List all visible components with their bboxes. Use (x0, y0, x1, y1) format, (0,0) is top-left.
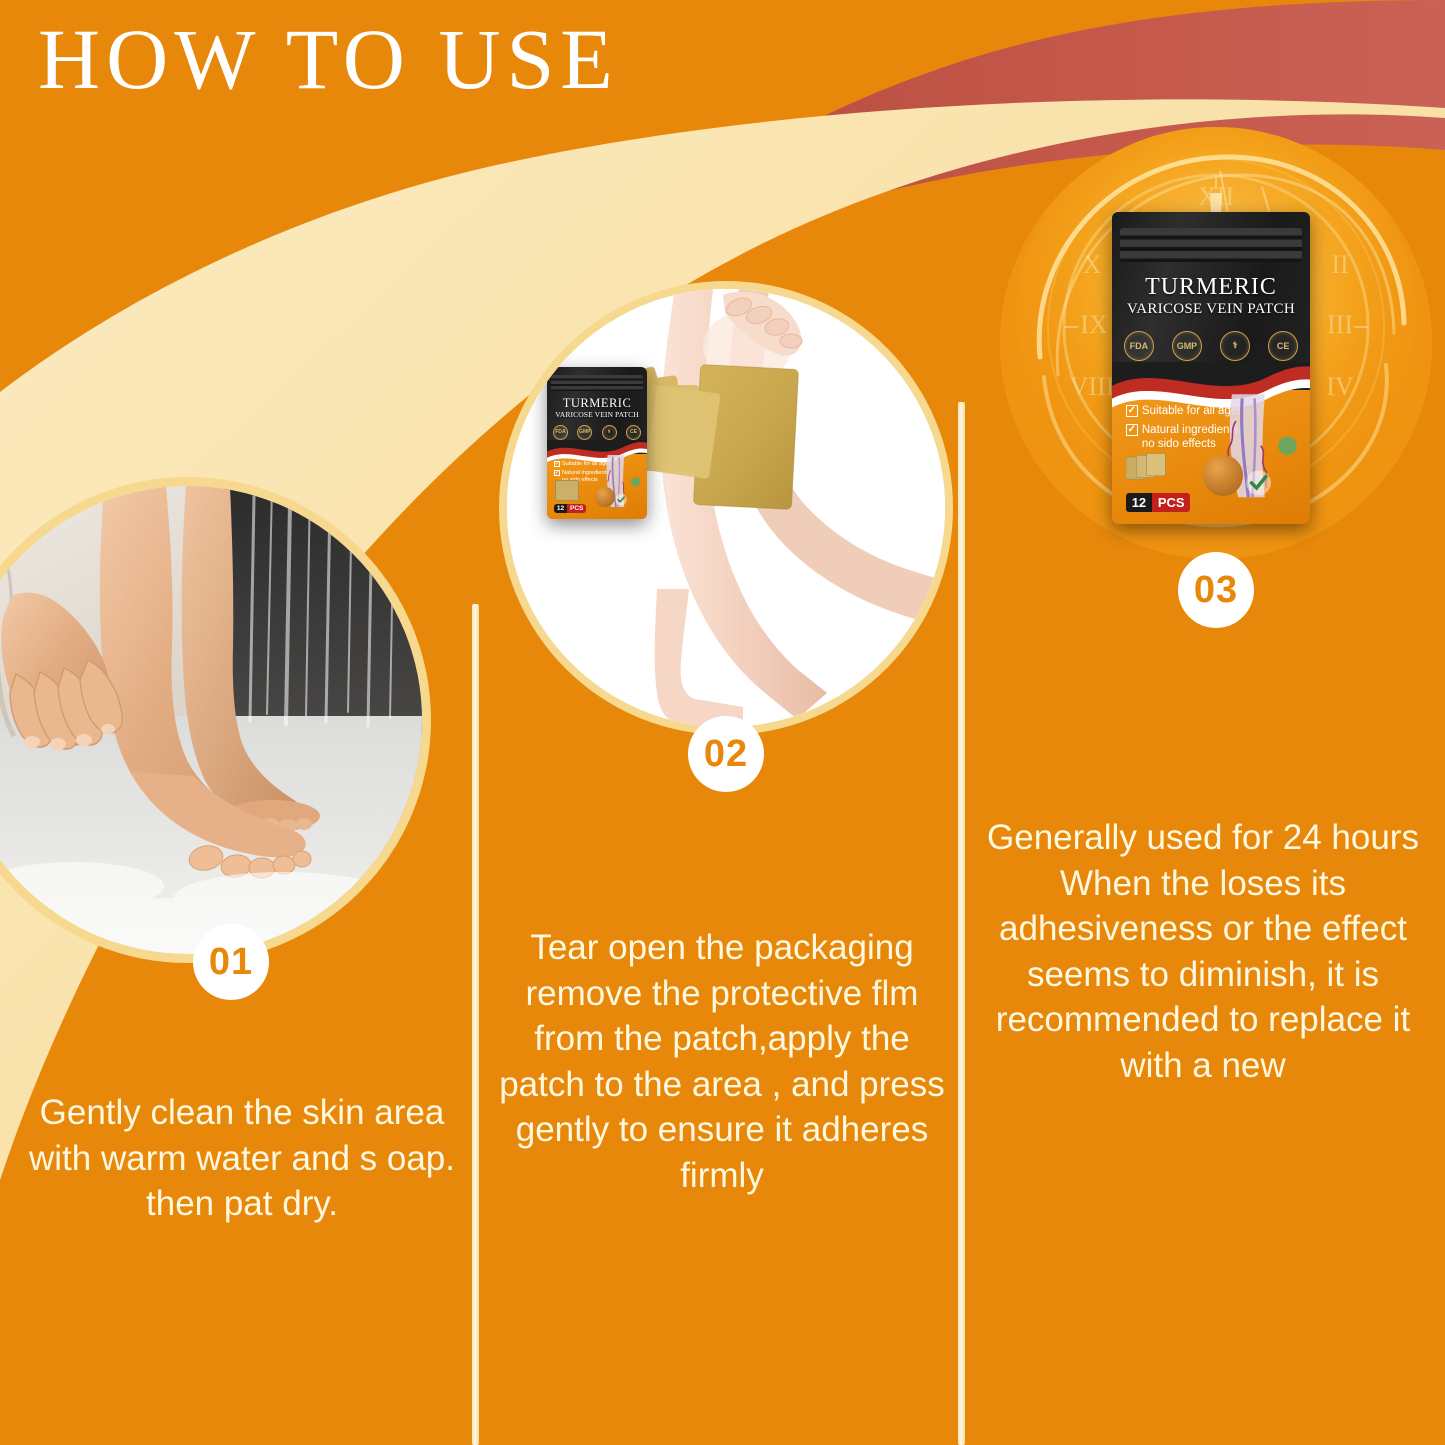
column-divider-2 (958, 402, 965, 1445)
svg-text:VIII: VIII (1070, 372, 1115, 401)
pouch-brand-small: TURMERIC VARICOSE VEIN PATCH (547, 397, 647, 419)
checkbox-icon: ✓ (554, 461, 560, 467)
step-number-badge-03: 03 (1178, 552, 1254, 628)
svg-text:IV: IV (1326, 372, 1354, 401)
pouch-brand-large: TURMERIC VARICOSE VEIN PATCH (1112, 274, 1310, 317)
pouch-zipper-small (551, 375, 643, 392)
pouch-count-unit-small: PCS (567, 504, 586, 513)
leg-vein-graphic-large (1201, 374, 1304, 518)
pouch-brand-line2-small: VARICOSE VEIN PATCH (547, 411, 647, 419)
svg-text:X: X (1083, 250, 1102, 279)
how-to-use-poster: HOW TO USE (0, 0, 1445, 1445)
pouch-cert-badges-small: FDA GMP ⚕ CE (553, 425, 641, 440)
gmp-badge-large: GMP (1172, 331, 1202, 361)
column-divider-1 (472, 604, 479, 1445)
pouch-brand-line2-large: VARICOSE VEIN PATCH (1112, 301, 1310, 318)
ce-badge-small: CE (626, 425, 641, 440)
step-02-photo: TURMERIC VARICOSE VEIN PATCH FDA GMP ⚕ C… (507, 289, 945, 727)
shower-scene-illustration (0, 486, 422, 954)
pouch-cert-badges-large: FDA GMP ⚕ CE (1124, 331, 1298, 361)
pouch-count-number-large: 12 (1126, 493, 1152, 511)
step-caption-02: Tear open the packaging remove the prote… (492, 925, 952, 1198)
pouch-count-badge-small: 12 PCS (554, 504, 586, 513)
step-01-photo (0, 486, 422, 954)
step-number-badge-01: 01 (193, 924, 269, 1000)
gmp-badge-small: GMP (577, 425, 592, 440)
product-pouch-small: TURMERIC VARICOSE VEIN PATCH FDA GMP ⚕ C… (547, 367, 647, 519)
pouch-count-unit-large: PCS (1152, 493, 1190, 511)
checkbox-icon: ✓ (554, 470, 560, 476)
caduceus-badge-large: ⚕ (1220, 331, 1250, 361)
step-caption-03: Generally used for 24 hours When the los… (968, 815, 1438, 1088)
page-title: HOW TO USE (38, 14, 619, 104)
patch-stack-image-large (1126, 443, 1177, 490)
checkbox-icon: ✓ (1126, 424, 1138, 436)
product-pouch-large: TURMERIC VARICOSE VEIN PATCH FDA GMP ⚕ C… (1112, 212, 1310, 524)
step-caption-01: Gently clean the skin area with warm wat… (14, 1090, 470, 1227)
fda-badge-large: FDA (1124, 331, 1154, 361)
pouch-count-number-small: 12 (554, 504, 567, 513)
fda-badge-small: FDA (553, 425, 568, 440)
pouch-zipper-large (1120, 228, 1302, 262)
caduceus-badge-small: ⚕ (602, 425, 617, 440)
ce-badge-large: CE (1268, 331, 1298, 361)
patch-stack-image-small (555, 480, 579, 501)
turmeric-root-image-small (595, 487, 615, 507)
turmeric-root-image-large (1203, 455, 1243, 496)
step-number-badge-02: 02 (688, 716, 764, 792)
checkbox-icon: ✓ (1126, 405, 1138, 417)
svg-text:IX: IX (1080, 310, 1108, 339)
pouch-count-badge-large: 12 PCS (1126, 493, 1191, 511)
pouch-brand-line1-large: TURMERIC (1112, 274, 1310, 300)
svg-text:II: II (1331, 250, 1348, 279)
svg-text:III: III (1327, 310, 1353, 339)
